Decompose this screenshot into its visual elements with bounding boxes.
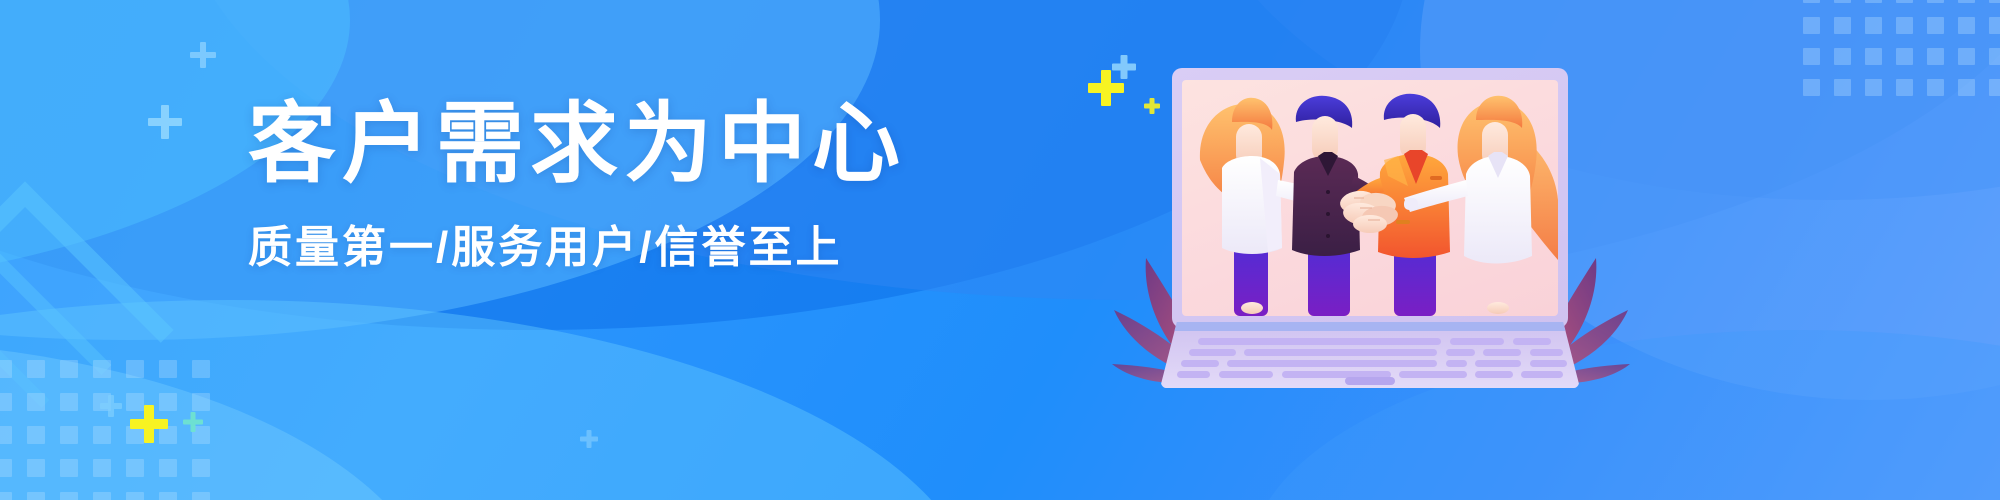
plus-icon-center-yellow <box>1088 70 1124 106</box>
promotional-banner: 客户需求为中心 质量第一/服务用户/信誉至上 <box>0 0 2000 500</box>
banner-text-block: 客户需求为中心 质量第一/服务用户/信誉至上 <box>248 96 906 275</box>
banner-headline: 客户需求为中心 <box>248 96 906 191</box>
plus-icon-top-left-small <box>190 42 216 68</box>
laptop-screen <box>1182 80 1558 316</box>
team-handstack-artwork <box>1182 80 1558 316</box>
plus-icon-center-yellow-small <box>1144 98 1160 114</box>
plus-icon-bottom-left-teal <box>183 412 203 432</box>
laptop-base-keyboard <box>1160 322 1580 388</box>
plus-icon-bottom-left-yellow <box>130 405 168 443</box>
plus-icon-bottom-left-cyan <box>100 395 122 417</box>
laptop-trackpad <box>1345 377 1395 385</box>
plus-icon-top-left-large <box>148 105 182 139</box>
banner-subtitle: 质量第一/服务用户/信誉至上 <box>248 211 906 275</box>
laptop-lid <box>1172 68 1568 328</box>
dot-grid-bottom-left <box>0 360 210 500</box>
dot-grid-top-right <box>1803 0 2000 96</box>
laptop-illustration <box>1160 68 1580 388</box>
laptop-hinge-strip <box>1160 322 1580 331</box>
plus-icon-bottom-center <box>580 430 598 448</box>
